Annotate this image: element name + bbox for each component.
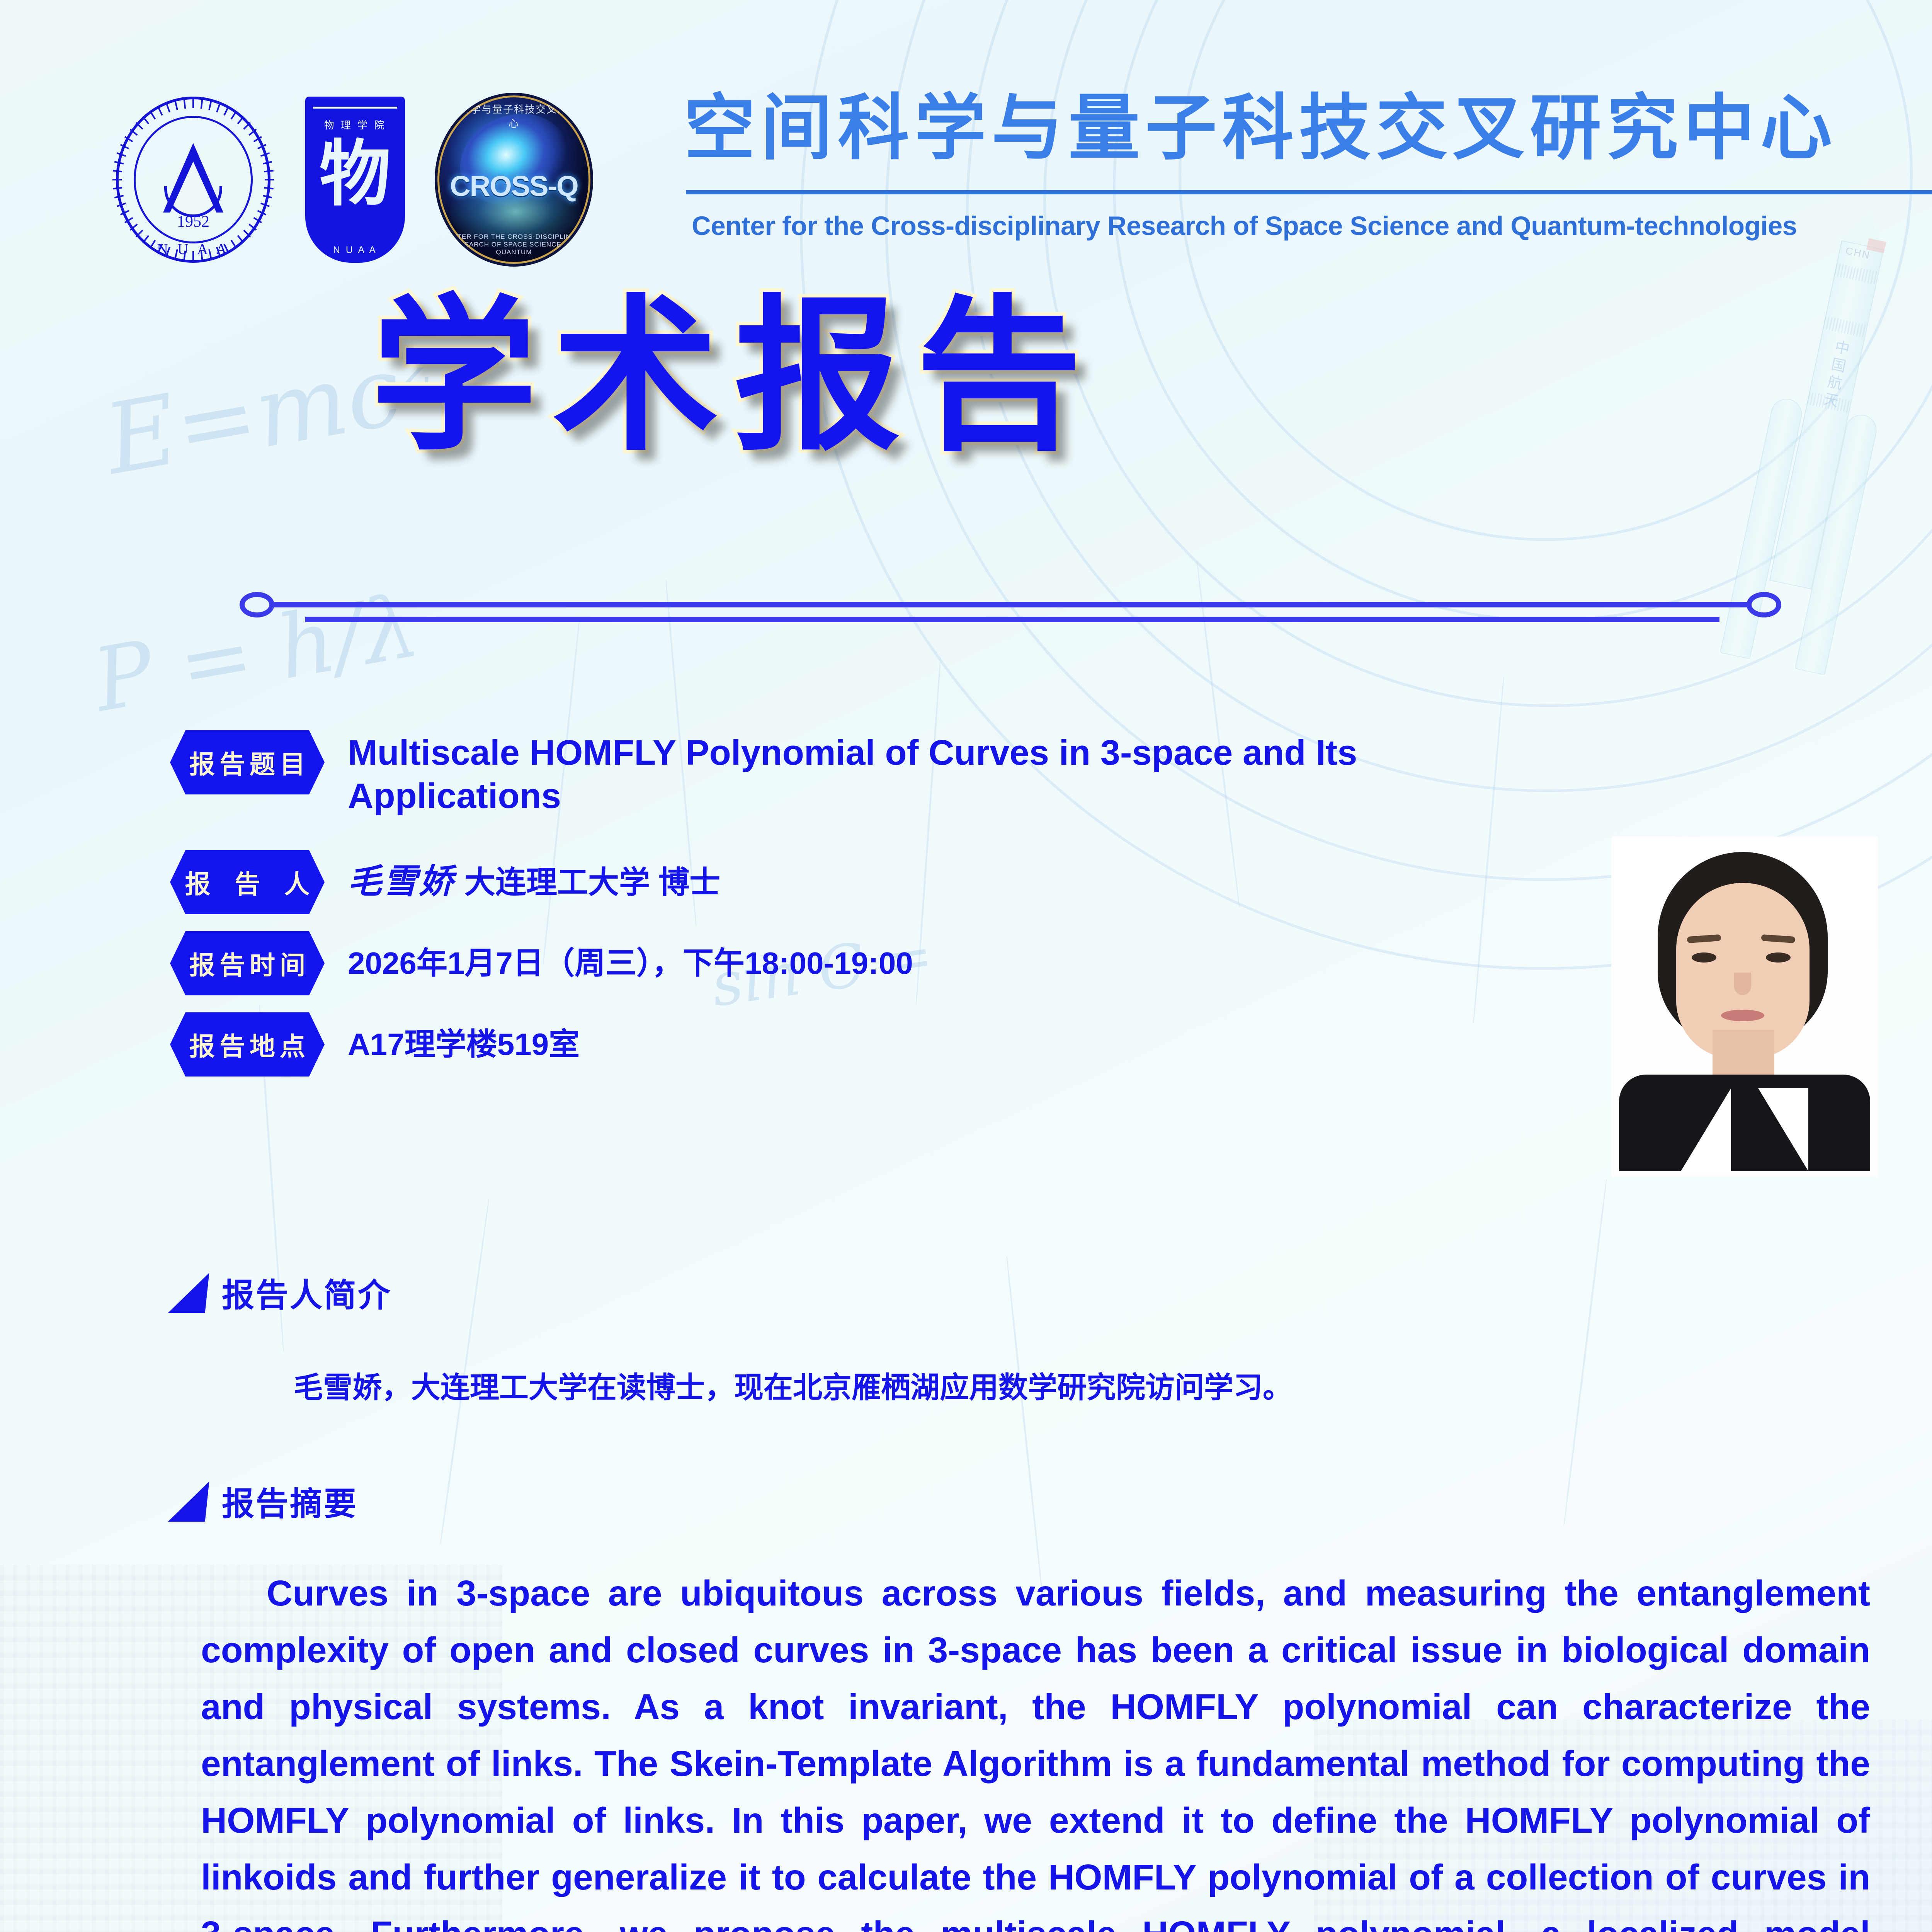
seal-year: 1952 [116, 213, 270, 231]
shield-top-rule [313, 107, 397, 109]
talk-title-value: Multiscale HOMFLY Polynomial of Curves i… [348, 730, 1530, 818]
decorative-stroke [1006, 1257, 1044, 1603]
photo-collar-right [1758, 1088, 1808, 1171]
ornament-oval-right [1747, 592, 1781, 617]
flag-icon [168, 1273, 209, 1313]
rocket-illustration: CHN 中国航天 [1704, 231, 1924, 704]
badge-talk-title: 报告题目 [170, 730, 325, 794]
speaker-affiliation: 大连理工大学 博士 [464, 865, 720, 900]
badge-speaker: 报 告 人 [170, 850, 325, 914]
speaker-photo [1611, 837, 1878, 1177]
badge-datetime: 报告时间 [170, 931, 325, 995]
abstract-heading-label: 报告摘要 [222, 1478, 358, 1525]
seal-tick [265, 179, 274, 180]
page-title: 学术报告 [371, 294, 1097, 460]
photo-suit [1619, 1075, 1870, 1171]
decorative-stroke [1563, 1180, 1607, 1525]
abstract-body-text: Curves in 3-space are ubiquitous across … [201, 1565, 1870, 1932]
crossq-ring-en-text: CENTER FOR THE CROSS-DISCIPLINARY RESEAR… [437, 233, 590, 256]
speaker-name: 毛雪娇 [348, 863, 454, 901]
bio-body-text: 毛雪娇，大连理工大学在读博士，现在北京雁栖湖应用数学研究院访问学习。 [294, 1368, 1917, 1408]
photo-eye-left [1692, 952, 1716, 963]
info-row-title: 报告题目 Multiscale HOMFLY Polynomial of Cur… [170, 730, 1870, 835]
section-heading-bio: 报告人简介 [170, 1269, 392, 1316]
org-title-en: Center for the Cross-disciplinary Resear… [692, 211, 1797, 241]
flag-icon [168, 1481, 209, 1522]
org-title-cn: 空间科学与量子科技交叉研究中心 [684, 91, 1837, 166]
title-underline-ornament [232, 591, 1789, 622]
shield-acronym: N U A A [305, 245, 405, 256]
ornament-bar-lower [305, 617, 1719, 622]
nuaa-seal-logo: 1952 N U A A [116, 97, 270, 263]
ornament-oval-left [240, 592, 274, 617]
poster-header: 1952 N U A A 物 理 学 院 物 N U A A 空间科学与量子科技… [0, 0, 1932, 278]
ornament-bar-upper [274, 602, 1750, 607]
shield-college-name: 物 理 学 院 [305, 117, 405, 132]
badge-location: 报告地点 [170, 1012, 325, 1077]
seal-tick [112, 179, 122, 180]
photo-mouth [1721, 1010, 1764, 1021]
bio-heading-label: 报告人简介 [222, 1269, 392, 1316]
photo-eye-right [1766, 952, 1791, 963]
photo-nose [1734, 973, 1751, 995]
cross-q-center-logo: 空间科学与量子科技交叉研究中心 CROSS-Q CENTER FOR THE C… [435, 93, 593, 267]
crossq-acronym: CROSS-Q [437, 170, 590, 202]
section-heading-abstract: 报告摘要 [170, 1478, 358, 1525]
seal-tick [192, 251, 194, 260]
physics-college-shield-logo: 物 理 学 院 物 N U A A [305, 97, 405, 263]
seal-tick [192, 99, 194, 108]
header-divider [686, 190, 1932, 194]
shield-glyph: 物 [305, 139, 405, 211]
crossq-ring-cn-text: 空间科学与量子科技交叉研究中心 [437, 102, 590, 130]
photo-collar-left [1681, 1088, 1731, 1171]
